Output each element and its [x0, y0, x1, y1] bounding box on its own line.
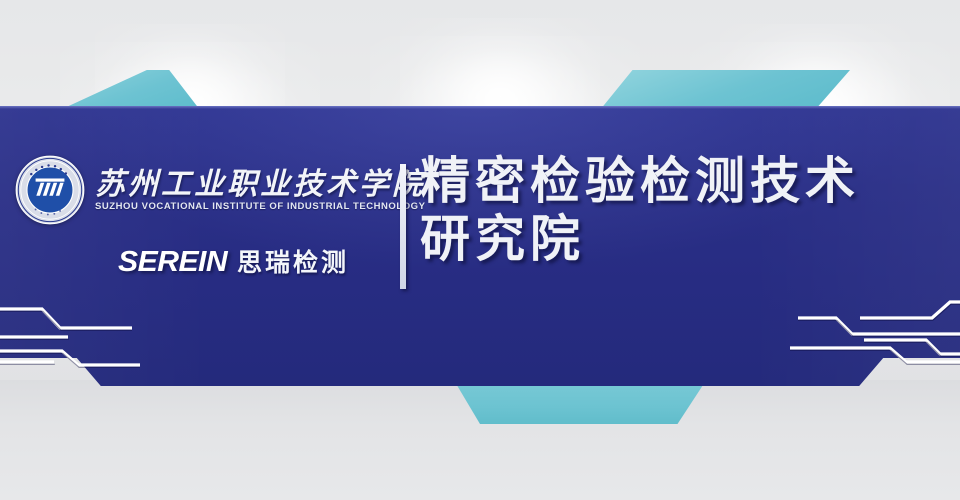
university-brand-row: 苏州工业职业技术学院 SUZHOU VOCATIONAL INSTITUTE O…	[14, 154, 394, 226]
teal-trapezoid-bottom-center	[455, 382, 705, 424]
partner-brand-row: SEREIN 思瑞检测	[118, 248, 394, 277]
institute-title-line-1: 精密检验检测技术	[420, 152, 940, 210]
institute-title-line-2: 研究院	[420, 210, 940, 268]
suzhou-vocational-institute-emblem	[14, 154, 86, 226]
university-name-cn: 苏州工业职业技术学院	[95, 170, 426, 200]
board-content: 苏州工业职业技术学院 SUZHOU VOCATIONAL INSTITUTE O…	[0, 106, 960, 386]
brand-block: 苏州工业职业技术学院 SUZHOU VOCATIONAL INSTITUTE O…	[14, 154, 394, 277]
institute-title: 精密检验检测技术 研究院	[420, 152, 940, 268]
exhibition-backdrop-scene: 苏州工业职业技术学院 SUZHOU VOCATIONAL INSTITUTE O…	[0, 0, 960, 500]
teal-trapezoid-top-right	[600, 70, 850, 110]
partner-latin-wordmark: SEREIN	[118, 248, 227, 277]
university-text: 苏州工业职业技术学院 SUZHOU VOCATIONAL INSTITUTE O…	[95, 168, 426, 212]
partner-name-cn: 思瑞检测	[237, 251, 349, 276]
university-name-en: SUZHOU VOCATIONAL INSTITUTE OF INDUSTRIA…	[95, 202, 426, 212]
vertical-divider-bar	[400, 164, 406, 289]
